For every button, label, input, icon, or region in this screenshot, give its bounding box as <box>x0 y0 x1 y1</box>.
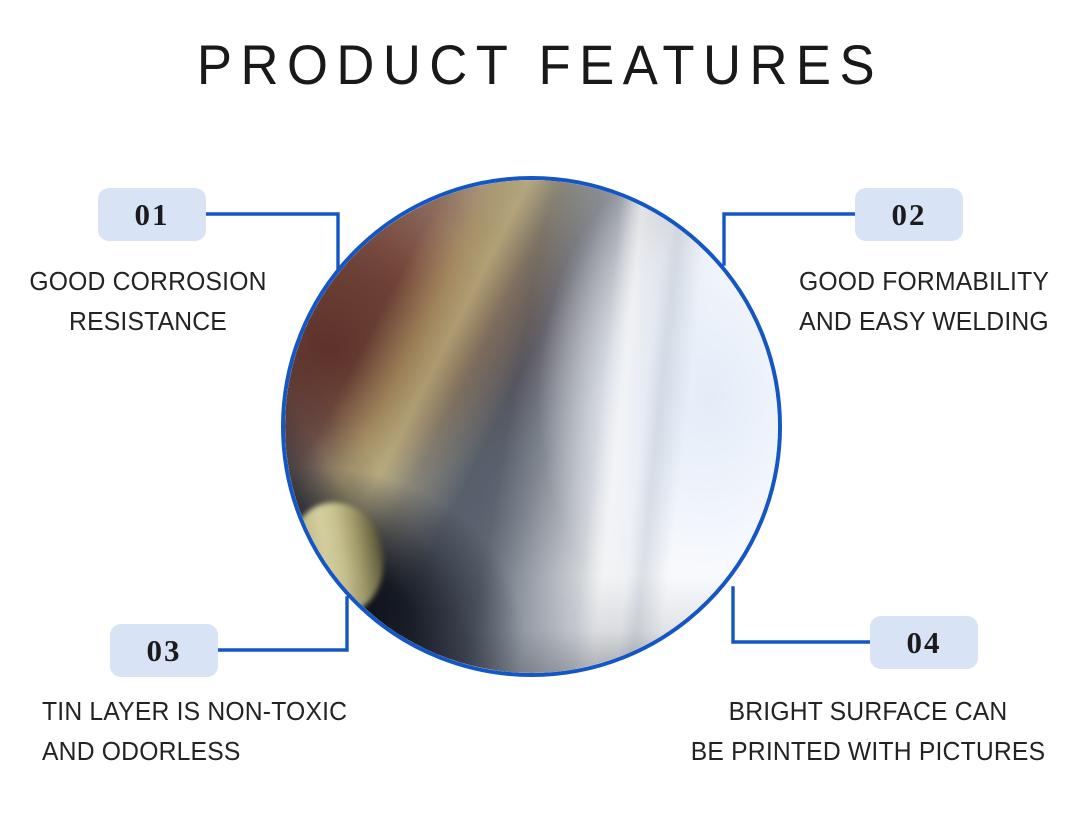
page-title: PRODUCT FEATURES <box>32 36 1047 95</box>
feature-badge-03[interactable]: 03 <box>110 624 218 677</box>
feature-badge-04[interactable]: 04 <box>870 616 978 669</box>
feature-text-02-line2: AND EASY WELDING <box>785 302 1062 342</box>
feature-text-01-line2: RESISTANCE <box>19 302 277 342</box>
feature-badge-02[interactable]: 02 <box>855 188 963 241</box>
feature-text-03-line1: TIN LAYER IS NON-TOXIC <box>42 692 356 732</box>
feature-text-04: BRIGHT SURFACE CAN BE PRINTED WITH PICTU… <box>682 692 1054 771</box>
feature-badge-01[interactable]: 01 <box>98 188 206 241</box>
feature-text-01: GOOD CORROSION RESISTANCE <box>19 262 277 341</box>
feature-text-03: TIN LAYER IS NON-TOXIC AND ODORLESS <box>42 692 356 771</box>
feature-text-01-line1: GOOD CORROSION <box>19 262 277 302</box>
feature-text-03-line2: AND ODORLESS <box>42 732 356 772</box>
feature-text-04-line2: BE PRINTED WITH PICTURES <box>682 732 1054 772</box>
feature-text-04-line1: BRIGHT SURFACE CAN <box>682 692 1054 732</box>
product-image-circle <box>281 176 782 677</box>
product-features-infographic: PRODUCT FEATURES <box>0 0 1080 827</box>
feature-text-02: GOOD FORMABILITY AND EASY WELDING <box>785 262 1062 341</box>
product-image <box>285 180 778 673</box>
feature-text-02-line1: GOOD FORMABILITY <box>785 262 1062 302</box>
